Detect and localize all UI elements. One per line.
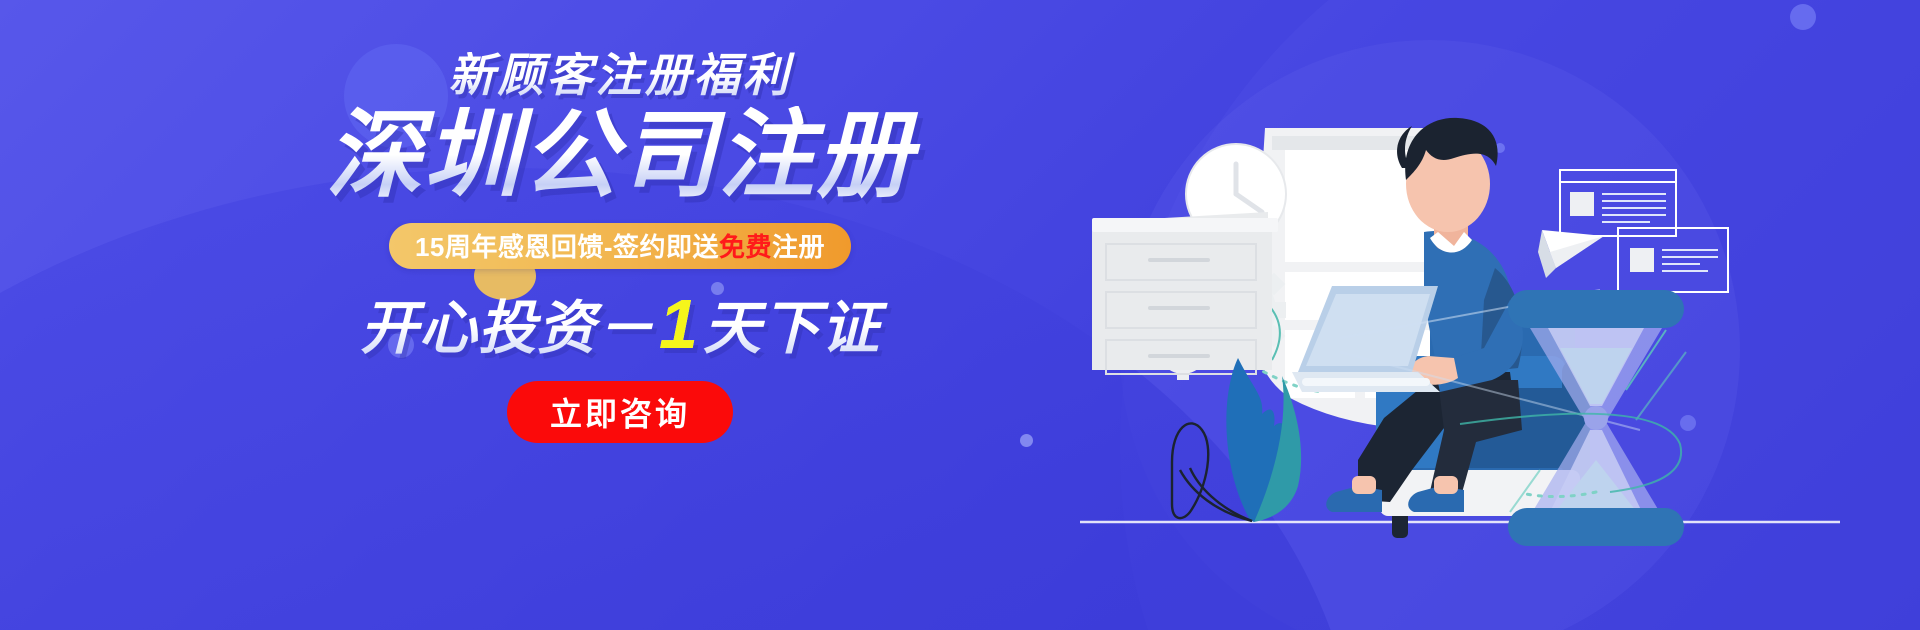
promo-copy-block: 新顾客注册福利 深圳公司注册 15周年感恩回馈-签约即送免费注册 开心投资－1天…: [300, 52, 940, 443]
page-title: 深圳公司注册: [300, 106, 940, 207]
tagline-suffix: 天下证: [703, 296, 880, 361]
offer-badge-highlight: 免费: [719, 227, 772, 264]
article-card-1: [1560, 170, 1676, 236]
offer-badge-lead: 15周年感恩回馈-签约即送: [415, 227, 719, 264]
dresser-icon: [1092, 212, 1278, 374]
decor-dot-tagline: [1020, 434, 1033, 447]
offer-badge: 15周年感恩回馈-签约即送免费注册: [389, 223, 851, 269]
offer-badge-trail: 注册: [772, 227, 825, 264]
article-card-2: [1618, 228, 1728, 292]
tagline-prefix: 开心投资－: [360, 296, 655, 361]
illustration-scene: [1040, 0, 1920, 630]
eyebrow-text: 新顾客注册福利: [300, 52, 940, 98]
paper-plane-icon: [1538, 230, 1604, 278]
tagline-number: 1: [655, 285, 703, 363]
consult-now-button[interactable]: 立即咨询: [507, 381, 733, 443]
promo-banner: 新顾客注册福利 深圳公司注册 15周年感恩回馈-签约即送免费注册 开心投资－1天…: [0, 0, 1920, 630]
tagline-text: 开心投资－1天下证: [300, 289, 940, 359]
